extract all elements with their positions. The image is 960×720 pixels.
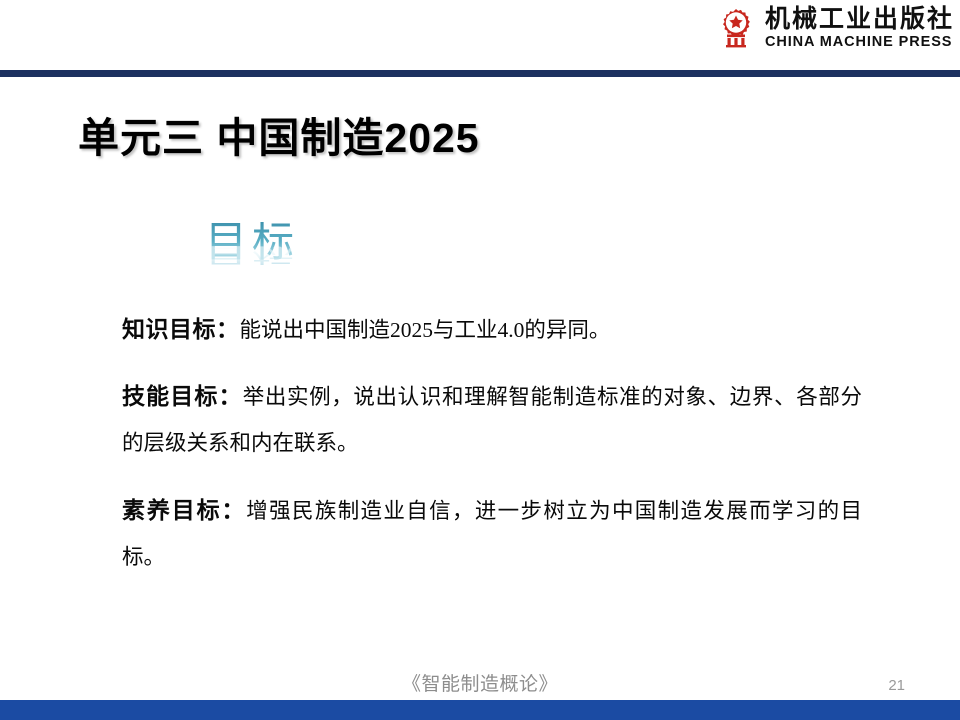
publisher-name-en: CHINA MACHINE PRESS [765, 35, 952, 50]
publisher-name-cn: 机械工业出版社 [765, 7, 954, 32]
objectives-list: 知识目标：能说出中国制造2025与工业4.0的异同。 技能目标：举出实例，说出认… [122, 285, 862, 601]
page-number: 21 [888, 677, 905, 694]
section-heading: 目标 [205, 222, 299, 264]
objective-item: 素养目标：增强民族制造业自信，进一步树立为中国制造发展而学习的目标。 [122, 488, 862, 580]
header-divider [0, 70, 960, 77]
slide: 机械工业出版社 CHINA MACHINE PRESS 单元三 中国制造2025… [0, 0, 960, 720]
publisher-logo: 机械工业出版社 CHINA MACHINE PRESS [714, 6, 954, 50]
footer-book-title: 《智能制造概论》 [0, 669, 960, 696]
objective-body: 能说出中国制造2025与工业4.0的异同。 [240, 318, 611, 342]
china-machine-press-emblem-icon [714, 6, 758, 50]
objective-item: 知识目标：能说出中国制造2025与工业4.0的异同。 [122, 307, 862, 353]
objective-label: 技能目标： [122, 384, 243, 409]
slide-title: 单元三 中国制造2025 [78, 104, 480, 164]
footer-bar [0, 700, 960, 720]
objective-item: 技能目标：举出实例，说出认识和理解智能制造标准的对象、边界、各部分的层级关系和内… [122, 374, 862, 466]
objective-label: 知识目标： [122, 317, 240, 342]
publisher-logo-text: 机械工业出版社 CHINA MACHINE PRESS [765, 7, 954, 50]
objective-label: 素养目标： [122, 498, 246, 523]
